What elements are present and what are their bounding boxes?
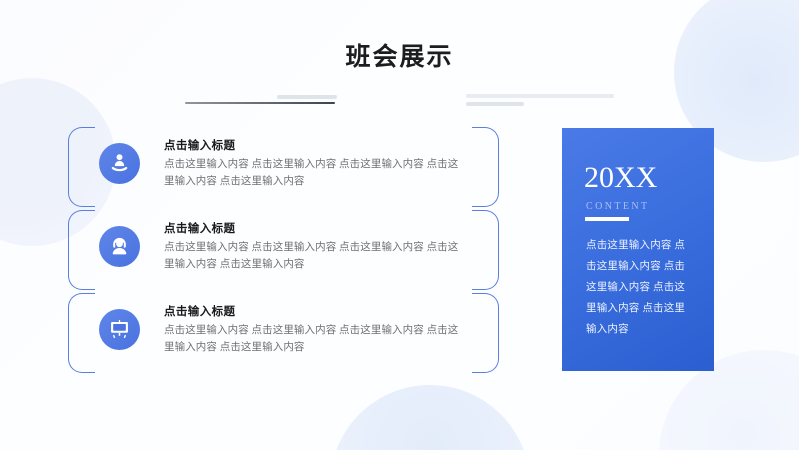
- bracket-right-icon: [472, 210, 499, 290]
- header-rule-right-top: [466, 94, 614, 98]
- header-rule-left-light: [277, 95, 337, 99]
- bracket-right-icon: [472, 127, 499, 207]
- list-item[interactable]: 点击输入标题 点击这里输入内容 点击这里输入内容 点击这里输入内容 点击这里输入…: [68, 207, 508, 291]
- panel-underline-bar: [585, 217, 629, 221]
- header-rule-left-dark: [185, 102, 335, 104]
- bracket-right-icon: [472, 293, 499, 373]
- presentation-board-icon: [99, 309, 140, 350]
- content-list: 点击输入标题 点击这里输入内容 点击这里输入内容 点击这里输入内容 点击这里输入…: [68, 124, 508, 374]
- slide-header: 班会展示: [0, 36, 799, 84]
- list-item-body: 点击这里输入内容 点击这里输入内容 点击这里输入内容 点击这里输入内容 点击这里…: [164, 156, 464, 190]
- panel-subtitle: CONTENT: [586, 201, 649, 212]
- list-item-body: 点击这里输入内容 点击这里输入内容 点击这里输入内容 点击这里输入内容 点击这里…: [164, 322, 464, 356]
- list-item-title: 点击输入标题: [164, 137, 464, 153]
- decorative-circle-bottom-center: [330, 385, 530, 450]
- list-item-text: 点击输入标题 点击这里输入内容 点击这里输入内容 点击这里输入内容 点击这里输入…: [164, 303, 464, 356]
- list-item[interactable]: 点击输入标题 点击这里输入内容 点击这里输入内容 点击这里输入内容 点击这里输入…: [68, 124, 508, 208]
- panel-body-text: 点击这里输入内容 点击这里输入内容 点击这里输入内容 点击这里输入内容 点击这里…: [586, 235, 692, 340]
- panel-year: 20XX: [584, 162, 657, 194]
- highlight-panel: 20XX CONTENT 点击这里输入内容 点击这里输入内容 点击这里输入内容 …: [562, 128, 714, 371]
- list-item-body: 点击这里输入内容 点击这里输入内容 点击这里输入内容 点击这里输入内容 点击这里…: [164, 239, 464, 273]
- meditation-person-icon: [99, 143, 140, 184]
- slide-canvas: 班会展示 点击输入标题 点击这里输入内容 点击这里输入内容 点击这里输入内容 点…: [0, 0, 799, 450]
- person-headphones-icon: [99, 226, 140, 267]
- page-title: 班会展示: [0, 36, 799, 80]
- list-item-title: 点击输入标题: [164, 303, 464, 319]
- bracket-left-icon: [68, 210, 95, 290]
- list-item-text: 点击输入标题 点击这里输入内容 点击这里输入内容 点击这里输入内容 点击这里输入…: [164, 137, 464, 190]
- header-rule-right-bottom: [466, 102, 524, 106]
- bracket-left-icon: [68, 127, 95, 207]
- list-item-text: 点击输入标题 点击这里输入内容 点击这里输入内容 点击这里输入内容 点击这里输入…: [164, 220, 464, 273]
- list-item[interactable]: 点击输入标题 点击这里输入内容 点击这里输入内容 点击这里输入内容 点击这里输入…: [68, 290, 508, 374]
- bracket-left-icon: [68, 293, 95, 373]
- list-item-title: 点击输入标题: [164, 220, 464, 236]
